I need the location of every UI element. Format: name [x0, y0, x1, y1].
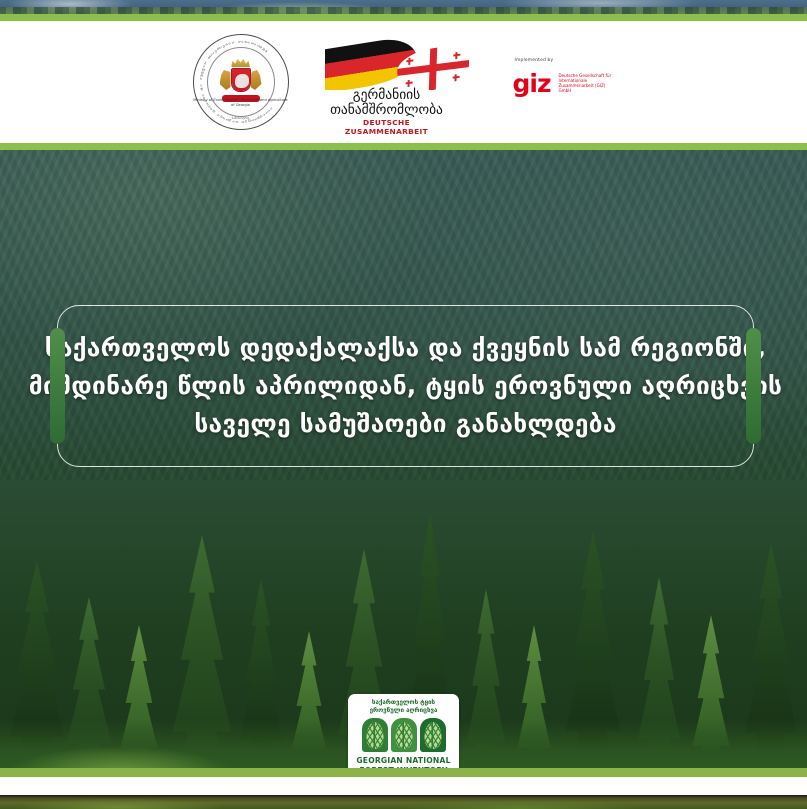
- gnfi-georgian-line2: ეროვნული აღრიცხვა: [348, 707, 459, 715]
- poster-page: Ministry of Environmental Protection and…: [0, 0, 807, 809]
- top-photo-strip: [0, 0, 807, 14]
- cooperation-georgian-text: გერმანიის თანამშრომლობა: [323, 88, 451, 118]
- giz-logo: Implemented by giz Deutsche Gesellschaft…: [507, 58, 615, 110]
- leaf-icon: [420, 718, 446, 752]
- bottom-green-divider: [0, 768, 807, 777]
- gnfi-english-line1: GEORGIAN NATIONAL: [356, 756, 450, 766]
- gnfi-georgian-name: საქართველოს ტყის ეროვნული აღრიცხვა: [348, 699, 459, 715]
- giz-full-name: Deutsche Gesellschaft für Internationale…: [559, 73, 615, 93]
- bolnisi-cross-icon: [452, 74, 459, 82]
- gnfi-georgian-line1: საქართველოს ტყის: [348, 699, 459, 707]
- gnfi-leaf-row: [362, 718, 446, 752]
- ministry-ring-text: საქართველოს გარემოს დაცვისა და სოფლის მე…: [193, 34, 289, 130]
- partner-logo-band: Ministry of Environmental Protection and…: [0, 21, 807, 143]
- giz-wordmark: giz: [513, 71, 551, 96]
- title-line-3: საველე სამუშაოები განახლდება: [29, 405, 783, 443]
- german-cooperation-logo: გერმანიის თანამშრომლობა DEUTSCHE ZUSAMME…: [323, 36, 473, 128]
- cooperation-georgian-line1: გერმანიის: [323, 88, 451, 103]
- mid-green-divider: [0, 143, 807, 150]
- cooperation-german-caption: DEUTSCHE ZUSAMMENARBEIT: [323, 118, 451, 136]
- right-accent-pill: [746, 328, 761, 444]
- giz-implemented-by-label: Implemented by: [515, 58, 554, 63]
- top-green-divider: [0, 14, 807, 21]
- bolnisi-cross-icon: [406, 57, 413, 65]
- bolnisi-cross-icon: [453, 52, 460, 60]
- bottom-photo-strip: [0, 795, 807, 809]
- ministry-coat-of-arms-icon: Ministry of Environmental Protection and…: [193, 34, 289, 130]
- bottom-white-strip: [0, 777, 807, 795]
- german-georgian-flag-icon: [325, 38, 471, 90]
- leaf-icon: [362, 718, 388, 752]
- page-title: საქართველოს დედაქალაქსა და ქვეყნის სამ რ…: [3, 329, 807, 443]
- left-accent-pill: [50, 328, 65, 444]
- headline-card: საქართველოს დედაქალაქსა და ქვეყნის სამ რ…: [57, 305, 754, 467]
- cooperation-georgian-line2: თანამშრომლობა: [323, 103, 451, 118]
- title-line-1: საქართველოს დედაქალაქსა და ქვეყნის სამ რ…: [29, 329, 783, 367]
- leaf-icon: [391, 718, 417, 752]
- title-line-2: მიმდინარე წლის აპრილიდან, ტყის ეროვნული …: [29, 367, 783, 405]
